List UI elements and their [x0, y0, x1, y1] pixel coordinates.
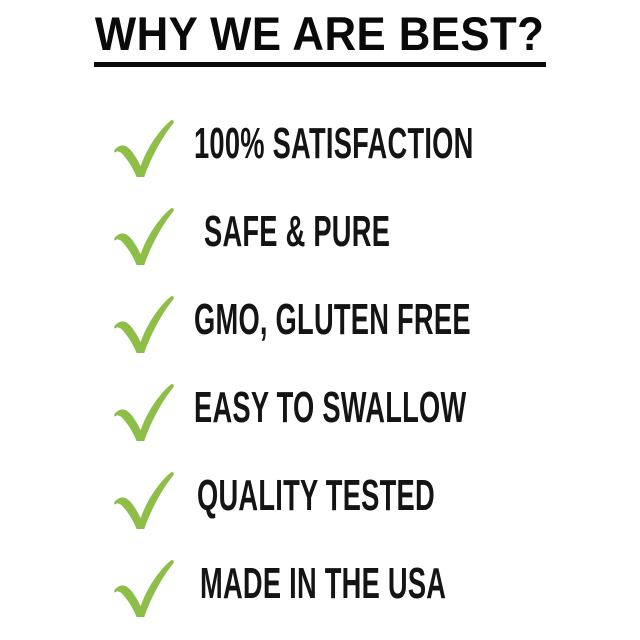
check-icon [108, 111, 178, 177]
benefit-label: QUALITY TESTED [197, 473, 435, 519]
check-icon [108, 287, 178, 353]
list-item: GMO, GLUTEN FREE [0, 276, 640, 364]
list-item: QUALITY TESTED [0, 452, 640, 540]
check-icon [108, 463, 178, 529]
list-item: MADE IN THE USA [0, 540, 640, 628]
page-title: WHY WE ARE BEST? [93, 10, 546, 58]
benefit-label: GMO, GLUTEN FREE [194, 297, 471, 343]
why-we-are-best-poster: WHY WE ARE BEST? 100% SATISFACTION SAFE … [0, 0, 640, 640]
title-underline-rule [94, 62, 546, 67]
check-icon [108, 375, 178, 441]
list-item: 100% SATISFACTION [0, 100, 640, 188]
list-item: SAFE & PURE [0, 188, 640, 276]
benefit-list: 100% SATISFACTION SAFE & PURE GMO, GLUTE… [0, 100, 640, 628]
list-item: EASY TO SWALLOW [0, 364, 640, 452]
benefit-label: SAFE & PURE [204, 209, 390, 255]
check-icon [108, 551, 178, 617]
benefit-label: EASY TO SWALLOW [194, 385, 466, 431]
page-title-block: WHY WE ARE BEST? [0, 10, 640, 67]
benefit-label: MADE IN THE USA [200, 561, 446, 607]
check-icon [108, 199, 178, 265]
benefit-label: 100% SATISFACTION [194, 121, 474, 167]
